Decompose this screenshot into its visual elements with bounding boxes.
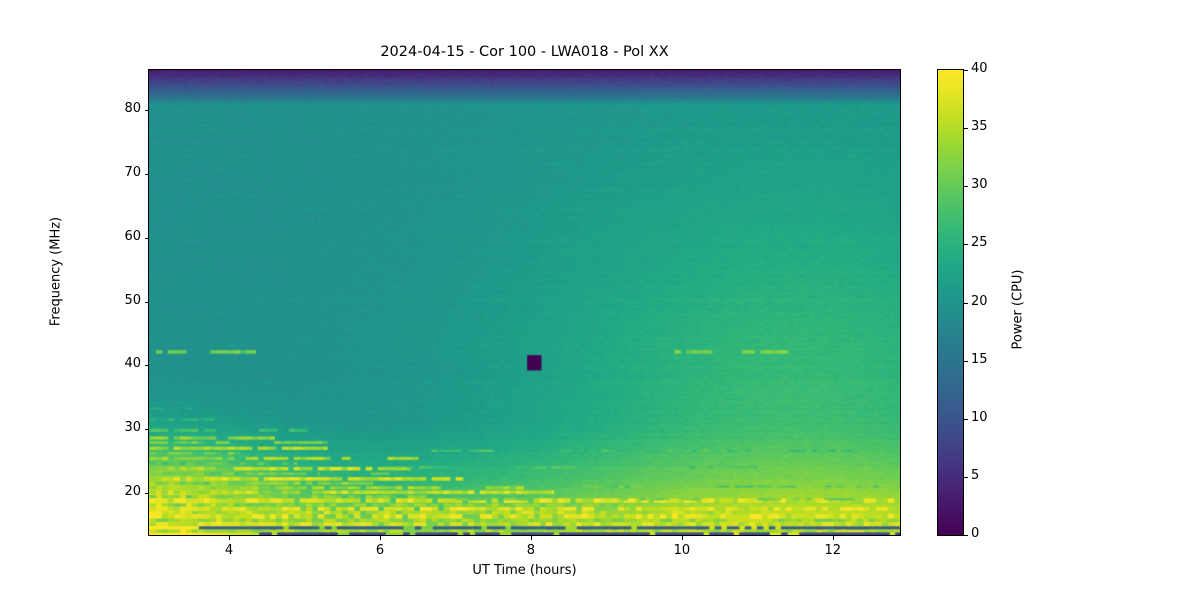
x-axis-label: UT Time (hours) <box>149 563 900 578</box>
x-tick-8 <box>531 536 532 540</box>
page-title: 2024-04-15 - Cor 100 - LWA018 - Pol XX <box>149 44 900 60</box>
x-ticklabel: 8 <box>506 543 556 558</box>
y-tick-80 <box>145 110 149 111</box>
colorbar-gradient <box>938 70 963 535</box>
colorbar-tick-0 <box>964 535 968 536</box>
colorbar-ticklabel: 0 <box>971 526 979 541</box>
colorbar-ticklabel: 30 <box>971 177 988 192</box>
colorbar-ticklabel: 15 <box>971 352 988 367</box>
colorbar-tick-25 <box>964 244 968 245</box>
x-ticklabel: 4 <box>204 543 254 558</box>
colorbar-tick-40 <box>964 70 968 71</box>
colorbar-label: Power (CPU) <box>1011 210 1026 410</box>
figure-canvas: 2024-04-15 - Cor 100 - LWA018 - Pol XX U… <box>0 0 1200 600</box>
y-tick-50 <box>145 302 149 303</box>
x-ticklabel: 10 <box>657 543 707 558</box>
x-ticklabel: 6 <box>355 543 405 558</box>
y-tick-60 <box>145 238 149 239</box>
colorbar-tick-5 <box>964 477 968 478</box>
x-tick-12 <box>833 536 834 540</box>
colorbar-tick-30 <box>964 186 968 187</box>
colorbar-tick-35 <box>964 128 968 129</box>
spectrogram-axes[interactable] <box>148 69 901 536</box>
spectrogram-image[interactable] <box>149 70 900 535</box>
colorbar-ticklabel: 5 <box>971 468 979 483</box>
x-ticklabel: 12 <box>808 543 858 558</box>
y-ticklabel: 30 <box>105 420 141 435</box>
x-tick-10 <box>682 536 683 540</box>
colorbar-ticklabel: 25 <box>971 235 988 250</box>
colorbar-ticklabel: 10 <box>971 410 988 425</box>
x-tick-4 <box>229 536 230 540</box>
colorbar[interactable] <box>937 69 964 536</box>
y-ticklabel: 60 <box>105 229 141 244</box>
colorbar-ticklabel: 40 <box>971 61 988 76</box>
x-tick-6 <box>380 536 381 540</box>
y-tick-20 <box>145 493 149 494</box>
y-tick-40 <box>145 365 149 366</box>
colorbar-tick-10 <box>964 419 968 420</box>
y-ticklabel: 40 <box>105 356 141 371</box>
colorbar-tick-20 <box>964 303 968 304</box>
y-tick-30 <box>145 429 149 430</box>
y-ticklabel: 50 <box>105 293 141 308</box>
y-ticklabel: 80 <box>105 101 141 116</box>
colorbar-tick-15 <box>964 361 968 362</box>
y-ticklabel: 20 <box>105 484 141 499</box>
y-axis-label: Frequency (MHz) <box>49 172 64 372</box>
colorbar-ticklabel: 35 <box>971 119 988 134</box>
y-tick-70 <box>145 174 149 175</box>
y-ticklabel: 70 <box>105 165 141 180</box>
colorbar-ticklabel: 20 <box>971 294 988 309</box>
